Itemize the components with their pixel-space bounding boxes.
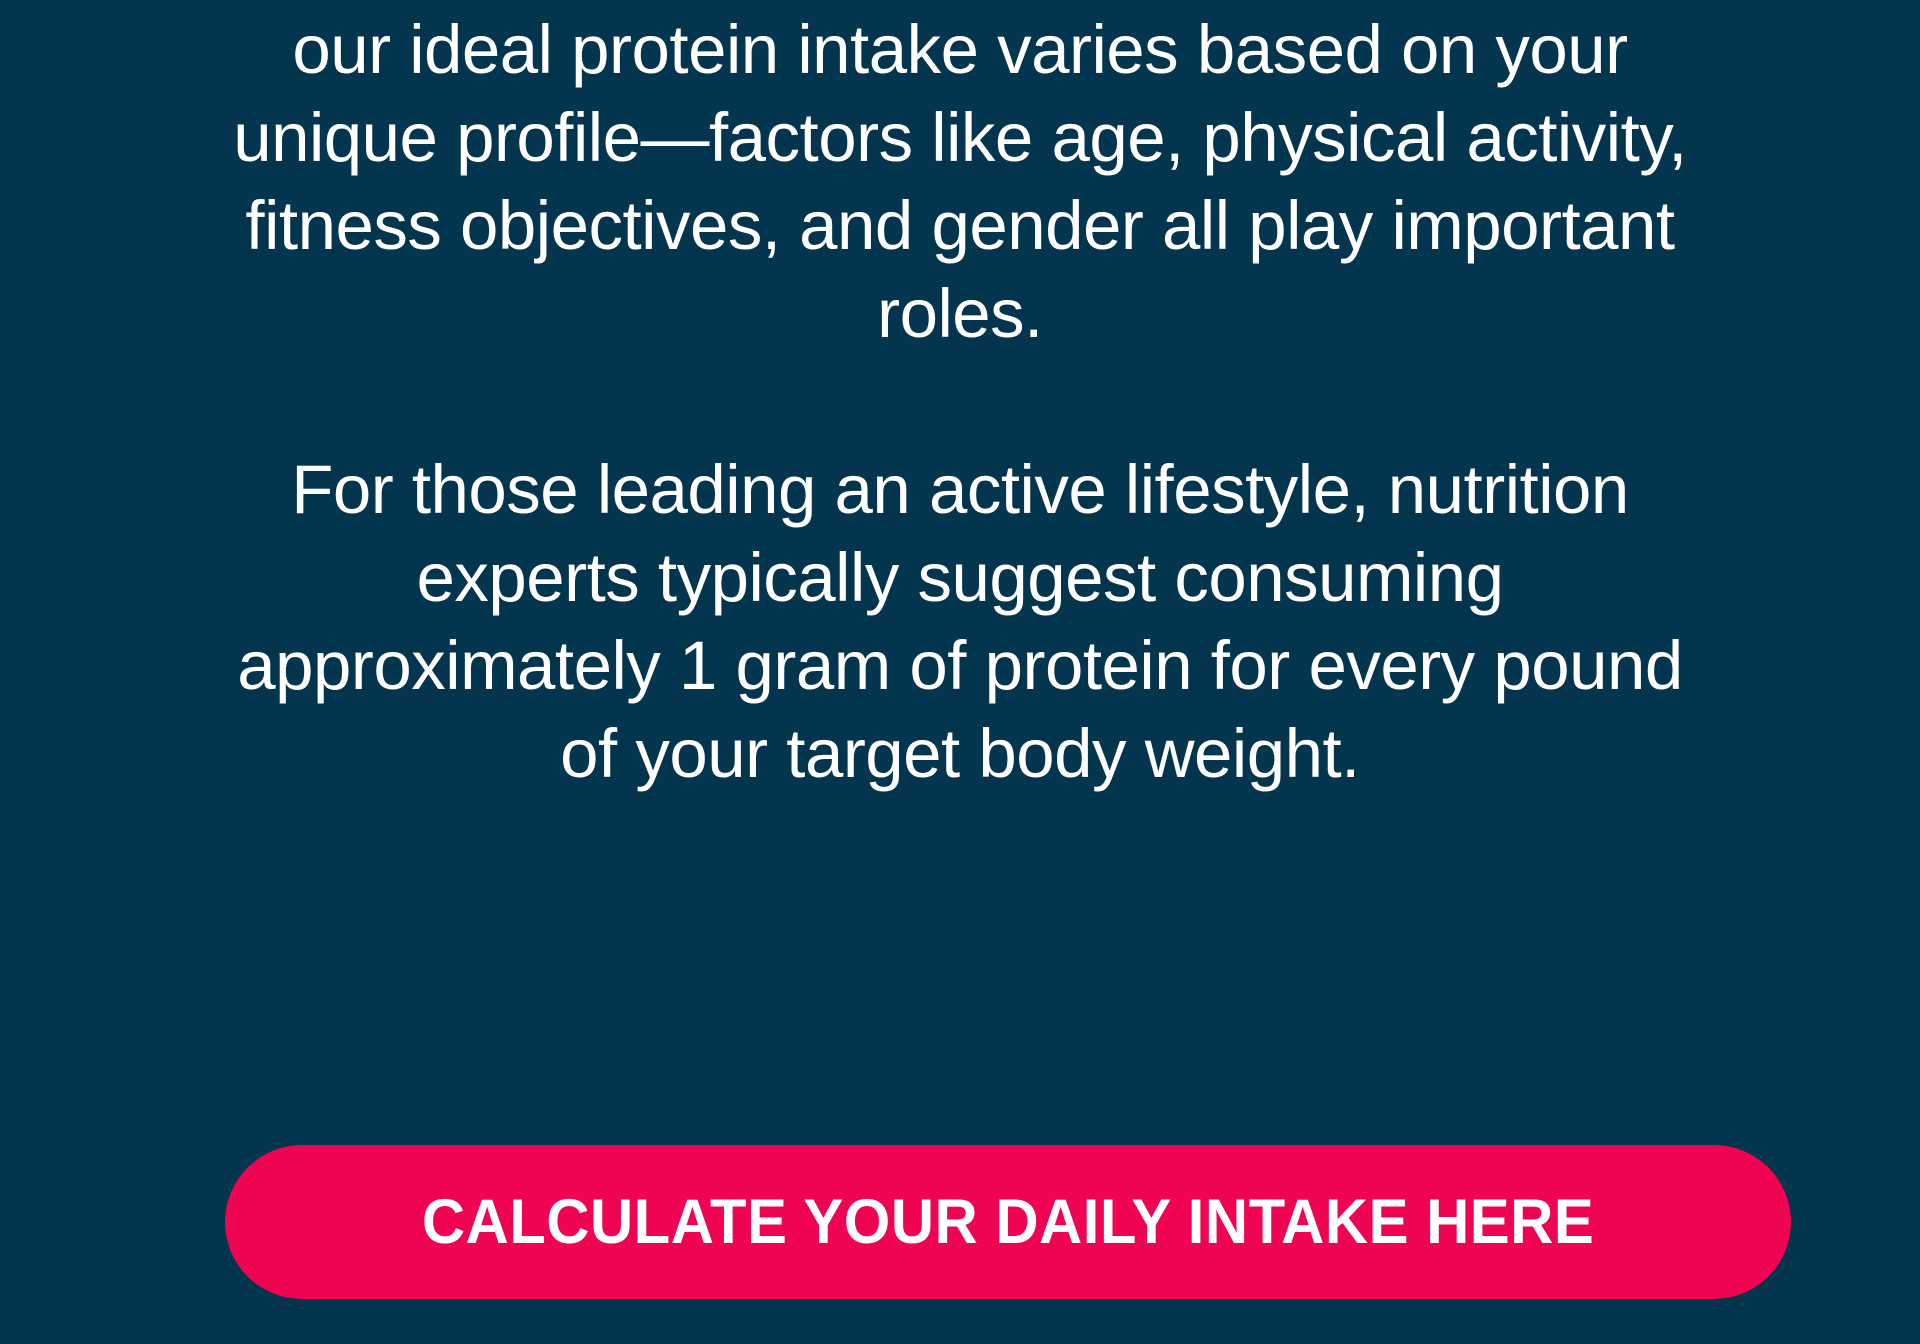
copy-block: our ideal protein intake varies based on… (205, 0, 1715, 798)
protein-intake-promo-card: our ideal protein intake varies based on… (0, 0, 1920, 1344)
paragraph-active-lifestyle-recommendation: For those leading an active lifestyle, n… (205, 446, 1715, 798)
cta-container: CALCULATE YOUR DAILY INTAKE HERE (225, 1145, 1791, 1299)
calculate-daily-intake-button-label: CALCULATE YOUR DAILY INTAKE HERE (422, 1191, 1594, 1254)
calculate-daily-intake-button[interactable]: CALCULATE YOUR DAILY INTAKE HERE (225, 1145, 1791, 1299)
paragraph-protein-intake-varies: our ideal protein intake varies based on… (205, 6, 1715, 358)
paragraph-spacer (205, 358, 1715, 446)
